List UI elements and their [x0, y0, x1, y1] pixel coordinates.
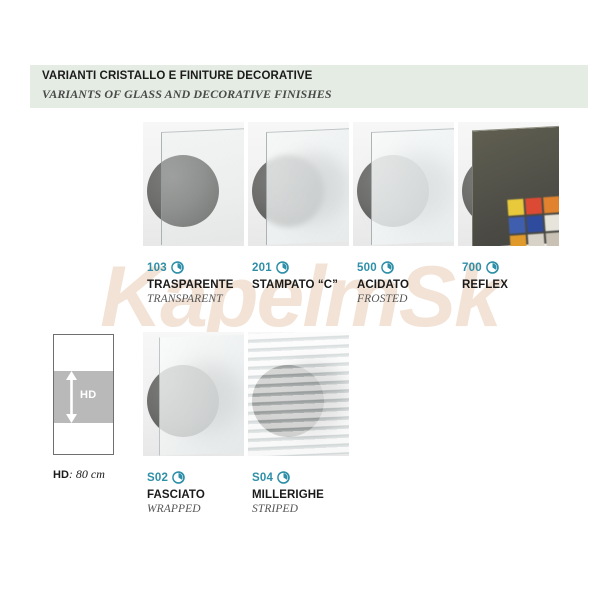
swatch-5	[526, 215, 543, 232]
sample-thumbnail-500[interactable]	[353, 122, 454, 246]
color-chart-swatches	[507, 196, 559, 246]
sample-thumbnail-700[interactable]	[458, 122, 559, 246]
code-row-700: 700	[462, 260, 508, 275]
sample-thumbnail-S04[interactable]	[248, 332, 349, 456]
swatch-7	[510, 235, 527, 246]
glass-pane-striped	[248, 332, 349, 456]
glass-pane-clear	[161, 128, 244, 245]
product-name-it: FASCIATO	[147, 489, 205, 501]
product-code: 103	[147, 262, 167, 274]
hd-caption-value: : 80 cm	[69, 467, 105, 481]
glass-photo-frosted	[353, 122, 454, 246]
code-row-103: 103	[147, 260, 234, 275]
caption-500: 500 ACIDATO FROSTED	[357, 260, 409, 305]
glass-pane-frosted	[371, 128, 454, 245]
product-name-en: FROSTED	[357, 293, 409, 305]
glass-photo-reflex	[458, 122, 559, 246]
product-code: 500	[357, 262, 377, 274]
double-arrow-icon	[65, 371, 78, 423]
glass-photo-wrapped	[143, 332, 244, 456]
product-name-en: WRAPPED	[147, 503, 205, 515]
swatch-9	[546, 232, 559, 246]
teal-circle-icon	[277, 471, 290, 484]
swatch-3	[543, 196, 559, 213]
product-code: S04	[252, 472, 273, 484]
page-subtitle: VARIANTS OF GLASS AND DECORATIVE FINISHE…	[42, 87, 332, 102]
product-name-it: STAMPATO “C”	[252, 279, 338, 291]
swatch-2	[525, 198, 542, 215]
product-name-it: TRASPARENTE	[147, 279, 234, 291]
section-header-banner: VARIANTI CRISTALLO E FINITURE DECORATIVE…	[30, 65, 588, 108]
code-row-500: 500	[357, 260, 409, 275]
product-code: 201	[252, 262, 272, 274]
product-name-en: STRIPED	[252, 503, 324, 515]
product-name-it: REFLEX	[462, 279, 508, 291]
caption-S02: S02 FASCIATO WRAPPED	[147, 470, 205, 515]
glass-pane-patterned	[266, 128, 349, 245]
teal-circle-icon	[381, 261, 394, 274]
product-code: S02	[147, 472, 168, 484]
teal-circle-icon	[486, 261, 499, 274]
glass-photo-patterned	[248, 122, 349, 246]
page-title: VARIANTI CRISTALLO E FINITURE DECORATIVE	[42, 70, 312, 82]
caption-S04: S04 MILLERIGHE STRIPED	[252, 470, 324, 515]
swatch-8	[528, 233, 545, 246]
glass-pane-wrapped	[159, 334, 244, 455]
glass-photo-transparent	[143, 122, 244, 246]
sample-thumbnail-S02[interactable]	[143, 332, 244, 456]
hd-height-diagram: HD	[53, 334, 114, 455]
code-row-201: 201	[252, 260, 338, 275]
teal-circle-icon	[172, 471, 185, 484]
code-row-S02: S02	[147, 470, 205, 485]
caption-700: 700 REFLEX	[462, 260, 508, 293]
product-name-en: TRANSPARENT	[147, 293, 234, 305]
glass-photo-striped	[248, 332, 349, 456]
product-code: 700	[462, 262, 482, 274]
caption-103: 103 TRASPARENTE TRANSPARENT	[147, 260, 234, 305]
swatch-1	[507, 199, 524, 216]
product-name-it: ACIDATO	[357, 279, 409, 291]
code-row-S04: S04	[252, 470, 324, 485]
hd-caption: HD: 80 cm	[53, 467, 105, 482]
caption-201: 201 STAMPATO “C”	[252, 260, 338, 293]
hd-caption-label: HD	[53, 469, 69, 481]
teal-circle-icon	[171, 261, 184, 274]
swatch-6	[544, 214, 559, 231]
hd-band-label: HD	[80, 389, 97, 401]
sample-thumbnail-103[interactable]	[143, 122, 244, 246]
product-name-it: MILLERIGHE	[252, 489, 324, 501]
teal-circle-icon	[276, 261, 289, 274]
sample-thumbnail-201[interactable]	[248, 122, 349, 246]
swatch-4	[509, 217, 526, 234]
